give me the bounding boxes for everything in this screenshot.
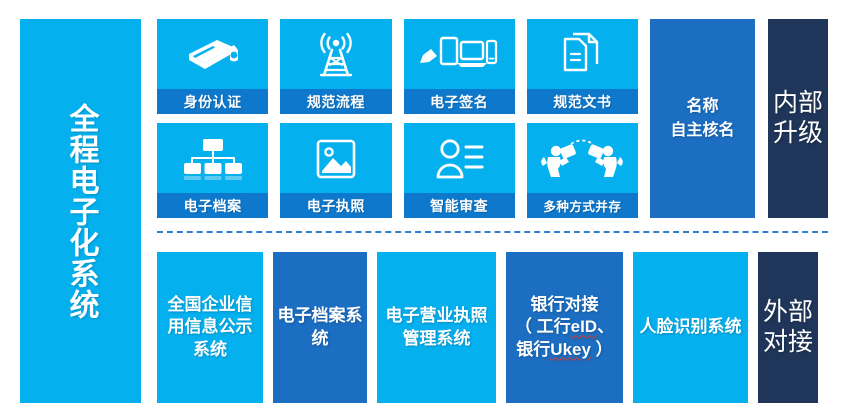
system-card-credit-publicity[interactable]: 全国企业信用信息公示系统 [157,252,263,403]
feature-card-earchive[interactable]: 电子档案 [157,123,268,218]
feature-card-label: 身份认证 [157,89,268,114]
external-integration-line2: 对接 [763,328,813,356]
broadcast-tower-icon [280,19,391,89]
section-divider [157,231,828,233]
feature-card-smartreview[interactable]: 智能审查 [404,123,515,218]
external-integration-line1: 外部 [763,298,813,326]
bank-line2-prefix: （ 工行 [515,317,571,336]
internal-upgrade-line1: 内部 [773,89,823,117]
system-card-label: 人脸识别系统 [640,316,742,338]
feature-card-documents[interactable]: 规范文书 [527,19,638,114]
feature-card-label: 智能审查 [404,193,515,218]
feature-card-label: 电子执照 [280,193,391,218]
bank-line2-suffix: 、 [597,317,614,336]
name-selfcheck-label: 名称 自主核名 [670,95,734,141]
name-selfcheck-card[interactable]: 名称 自主核名 [650,19,755,218]
bank-line1: 银行对接 [530,295,598,314]
feature-card-label: 电子档案 [157,193,268,218]
feature-card-esignature[interactable]: 电子签名 [404,19,515,114]
system-card-row: 全国企业信用信息公示系统 电子档案系统 电子营业执照管理系统 银行对接 （ 工行… [157,252,828,403]
feature-card-elicense[interactable]: 电子执照 [280,123,391,218]
feature-card-label: 规范流程 [280,89,391,114]
system-card-label: 银行对接 （ 工行eID、 银行Ukey ） [515,294,614,360]
system-card-elicense-mgmt[interactable]: 电子营业执照管理系统 [377,252,496,403]
bank-line3-suffix: ） [591,340,613,359]
bank-line2-spellcheck: eID [571,317,597,336]
infographic-canvas: 全程电子化系统 身份认证 [0,0,847,411]
system-card-label: 电子档案系统 [277,305,363,349]
name-selfcheck-line1: 名称 [686,98,718,115]
two-people-connect-icon [527,123,638,193]
system-card-label: 电子营业执照管理系统 [381,305,492,349]
user-checklist-icon [404,123,515,193]
multi-device-signature-icon [404,19,515,89]
feature-card-label: 电子签名 [404,89,515,114]
internal-upgrade-line2: 升级 [773,119,823,147]
internal-upgrade-tag: 内部 升级 [768,19,828,218]
feature-card-grid: 身份认证 规范流程 [157,19,638,218]
id-card-reader-icon [157,19,268,89]
name-selfcheck-line2: 自主核名 [670,122,734,139]
image-license-icon [280,123,391,193]
feature-card-process[interactable]: 规范流程 [280,19,391,114]
feature-card-identity[interactable]: 身份认证 [157,19,268,114]
feature-card-label: 规范文书 [527,89,638,114]
documents-icon [527,19,638,89]
system-card-bank-integration[interactable]: 银行对接 （ 工行eID、 银行Ukey ） [506,252,623,403]
system-card-face-recognition[interactable]: 人脸识别系统 [633,252,748,403]
feature-card-multimode[interactable]: 多种方式并存 [527,123,638,218]
internal-upgrade-label: 内部 升级 [773,89,823,148]
org-tree-icon [157,123,268,193]
bank-line3-prefix: 银行 [516,340,550,359]
system-card-earchive[interactable]: 电子档案系统 [273,252,367,403]
feature-card-label: 多种方式并存 [527,193,638,218]
external-integration-tag: 外部 对接 [758,252,818,403]
external-integration-label: 外部 对接 [763,298,813,357]
system-card-label: 全国企业信用信息公示系统 [161,294,259,360]
left-banner-title: 全程电子化系统 [61,103,101,320]
left-banner: 全程电子化系统 [20,19,141,403]
bank-line3-spellcheck: Ukey [550,340,591,359]
